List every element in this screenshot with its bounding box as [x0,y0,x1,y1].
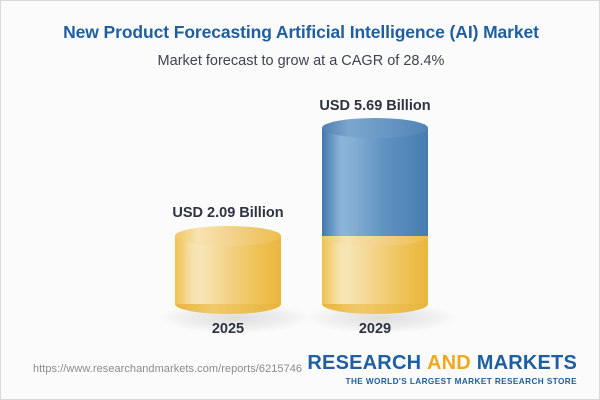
footer: https://www.researchandmarkets.com/repor… [1,347,600,399]
chart-subtitle: Market forecast to grow at a CAGR of 28.… [1,43,600,69]
chart-header: New Product Forecasting Artificial Intel… [1,1,600,69]
cylinder-top-2029 [322,118,428,138]
market-forecast-infographic: New Product Forecasting Artificial Intel… [0,0,600,400]
report-url-link[interactable]: https://www.researchandmarkets.com/repor… [33,363,302,375]
bar-value-label-2029: USD 5.69 Billion [265,98,485,114]
chart-plot-area: USD 2.09 Billion 2025 USD 5.69 Billion [1,86,600,346]
cylinder-segment-base-2029 [322,236,428,304]
research-and-markets-logo[interactable]: RESEARCH AND MARKETS THE WORLD'S LARGEST… [307,353,577,386]
bar-value-label-2025: USD 2.09 Billion [118,205,338,221]
cylinder-top-2025 [175,226,281,246]
cylinder-2029[interactable] [322,118,428,314]
logo-word-markets: MARKETS [477,352,577,374]
page-title: New Product Forecasting Artificial Intel… [1,1,600,43]
x-axis-label-2029: 2029 [265,321,485,337]
logo-word-research: RESEARCH [307,352,421,374]
logo-tagline: THE WORLD'S LARGEST MARKET RESEARCH STOR… [307,374,577,386]
cylinder-segment-growth-2029 [322,128,428,236]
cylinder-2025[interactable] [175,226,281,314]
logo-wordmark: RESEARCH AND MARKETS [307,353,577,374]
cylinder-body-2025 [175,236,281,304]
logo-word-and-text: AND [427,352,471,374]
